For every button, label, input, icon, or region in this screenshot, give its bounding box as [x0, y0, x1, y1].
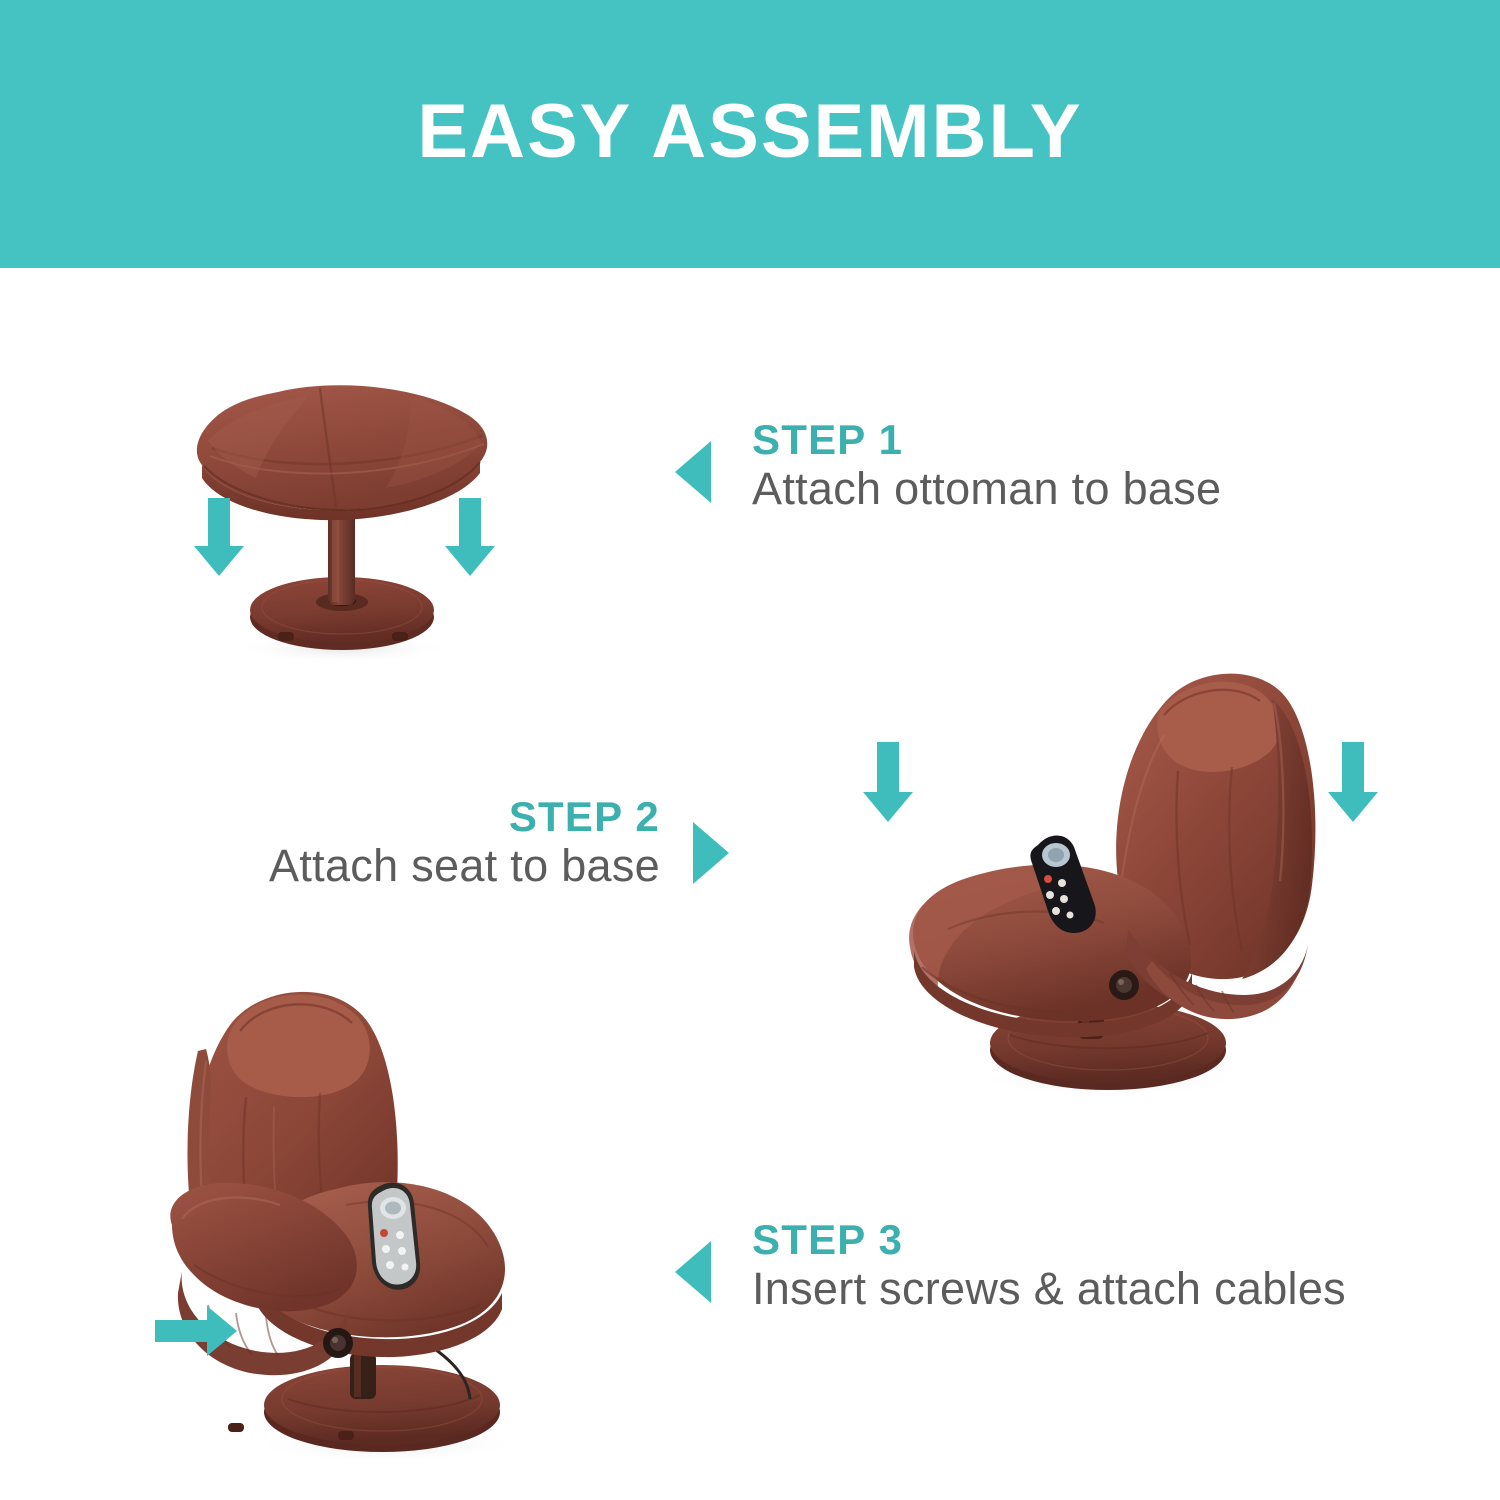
- arrow-down-icon: [437, 498, 503, 576]
- step-1-kicker: STEP 1: [752, 418, 1392, 462]
- arrow-down-icon: [1320, 742, 1386, 822]
- infographic-page: EASY ASSEMBLY: [0, 0, 1500, 1500]
- triangle-right-icon: [693, 822, 729, 884]
- step-3-block: STEP 3 Insert screws & attach cables: [752, 1218, 1452, 1315]
- reclined-chair-illustration: [860, 655, 1400, 1095]
- arrow-down-icon: [855, 742, 921, 822]
- triangle-left-icon: [675, 1241, 711, 1303]
- step-2-description: Attach seat to base: [150, 839, 660, 892]
- step-3-kicker: STEP 3: [752, 1218, 1452, 1262]
- step-2-block: STEP 2 Attach seat to base: [150, 795, 660, 892]
- header-banner: EASY ASSEMBLY: [0, 0, 1500, 268]
- step-3-description: Insert screws & attach cables: [752, 1262, 1452, 1315]
- step-1-description: Attach ottoman to base: [752, 462, 1392, 515]
- step-2-kicker: STEP 2: [150, 795, 660, 839]
- triangle-left-icon: [675, 441, 711, 503]
- arrow-right-icon: [155, 1300, 235, 1362]
- step-1-block: STEP 1 Attach ottoman to base: [752, 418, 1392, 515]
- ottoman-post: [328, 510, 355, 605]
- arrow-down-icon: [186, 498, 252, 576]
- page-title: EASY ASSEMBLY: [417, 94, 1082, 174]
- chair-post: [350, 1353, 376, 1399]
- remote-control: [368, 1183, 420, 1290]
- upright-chair-illustration: [150, 975, 660, 1465]
